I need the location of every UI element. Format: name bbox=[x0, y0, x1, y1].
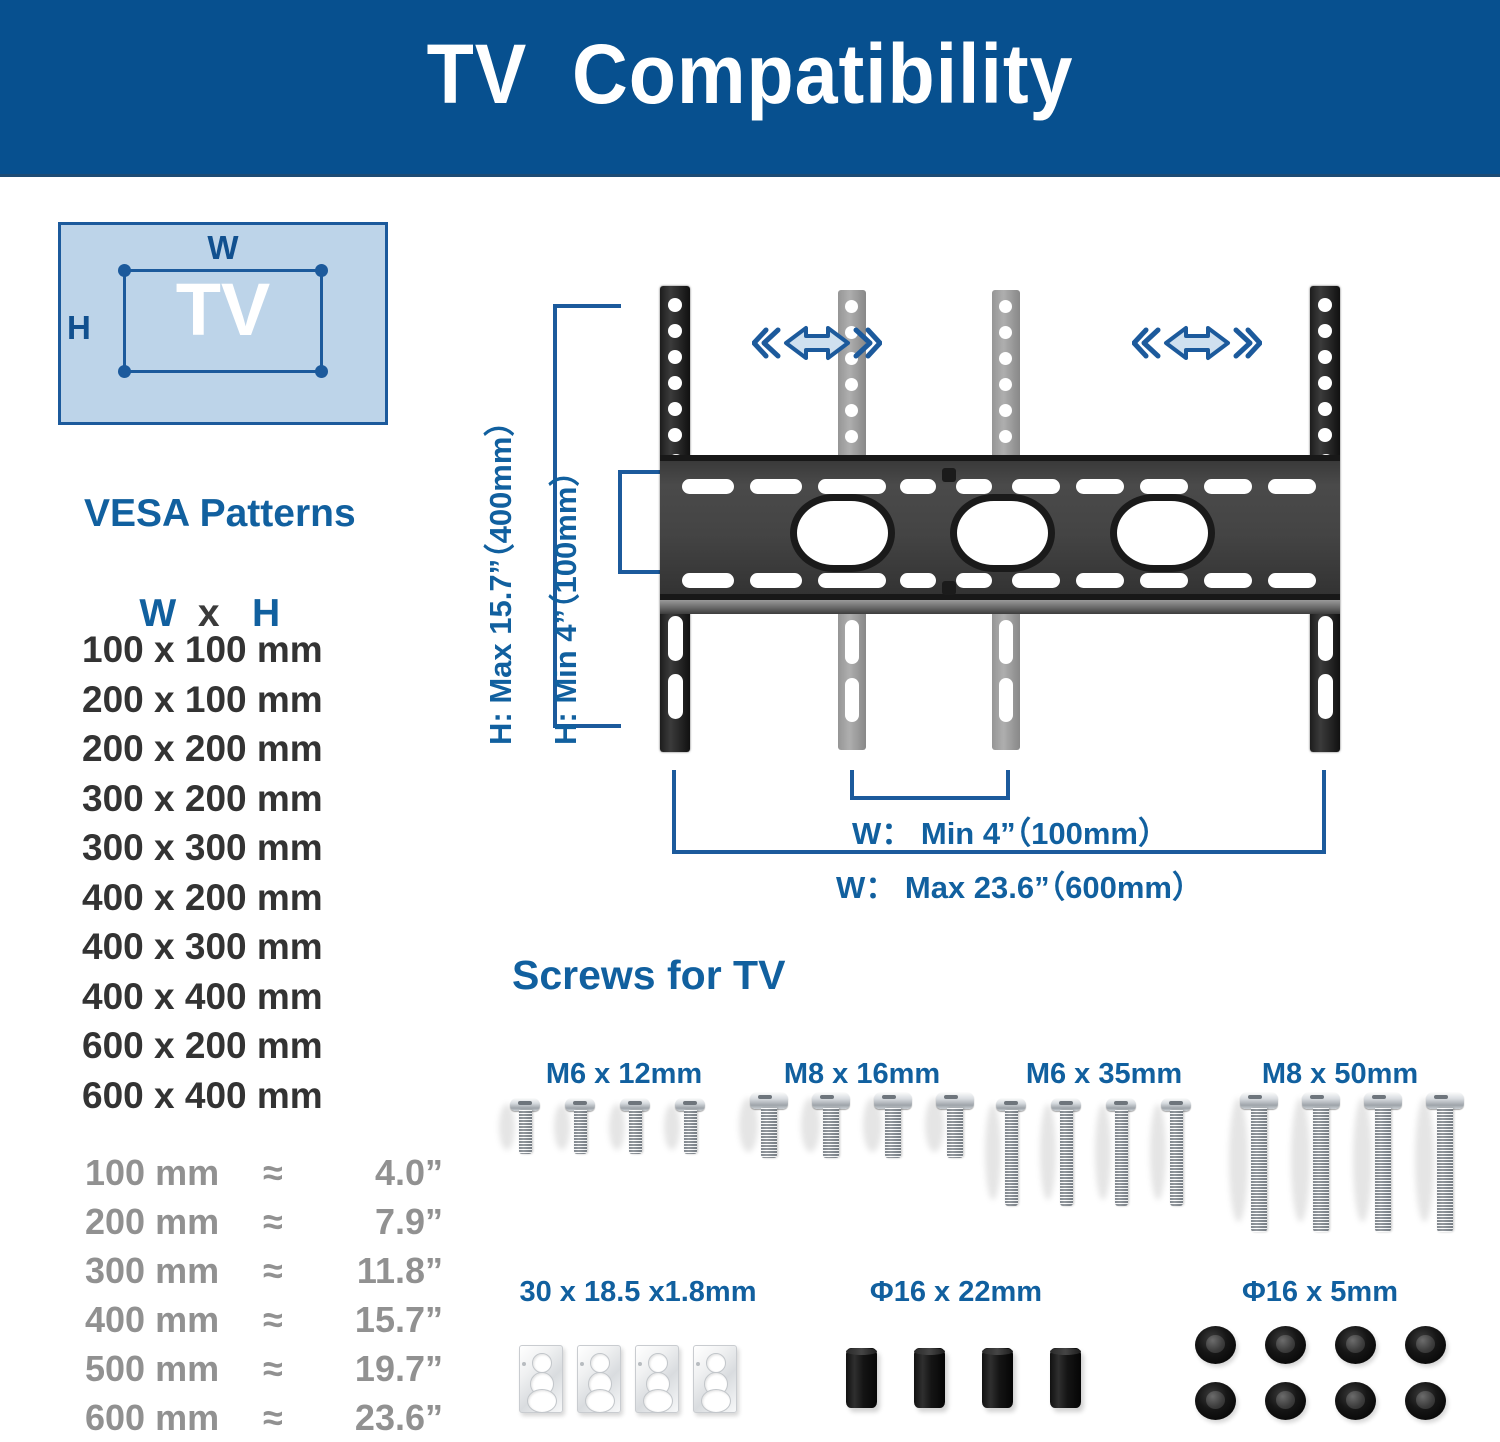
wall-mount-bracket-diagram: H: Max 15.7”（400mm） H: Min 4”（100mm） bbox=[500, 280, 1400, 880]
list-item: 600 x 400 mm bbox=[82, 1071, 462, 1121]
conv-inches: 7.9” bbox=[323, 1197, 443, 1246]
cylinder-spacer bbox=[914, 1348, 945, 1408]
w-min-dimension-label: W： Min 4”（100mm） bbox=[852, 808, 1169, 853]
plate-cutout bbox=[790, 494, 895, 572]
conv-mm: 100 mm bbox=[85, 1148, 263, 1197]
tv-corner-dot bbox=[315, 264, 328, 277]
conv-mm: 600 mm bbox=[85, 1393, 263, 1442]
vesa-patterns-heading: VESA Patterns bbox=[84, 492, 356, 536]
double-headed-arrow-icon bbox=[1132, 320, 1262, 366]
conv-inches: 15.7” bbox=[323, 1295, 443, 1344]
conv-inches: 11.8” bbox=[323, 1246, 443, 1295]
screws-section-heading: Screws for TV bbox=[512, 952, 785, 999]
w-max-left-tick bbox=[672, 770, 676, 854]
bracket-main-plate bbox=[660, 455, 1340, 600]
part-label-washer: Φ16 x 5mm bbox=[1210, 1276, 1430, 1309]
plate-cutout bbox=[1110, 494, 1215, 572]
tv-width-label: W bbox=[61, 229, 385, 267]
w-max-dimension-label: W： Max 23.6”（600mm） bbox=[836, 862, 1203, 907]
tv-corner-dot bbox=[315, 365, 328, 378]
conv-approx-symbol: ≈ bbox=[263, 1295, 323, 1344]
part-label-spacer: Φ16 x 22mm bbox=[846, 1276, 1066, 1309]
screw-m8-50 bbox=[1302, 1092, 1340, 1232]
washer bbox=[1195, 1382, 1236, 1420]
spacer-plate bbox=[577, 1345, 621, 1413]
tv-outline-diagram: W H TV bbox=[58, 222, 388, 425]
screw-m6-35 bbox=[1051, 1098, 1083, 1208]
h-min-dimension-label: H: Min 4”（100mm） bbox=[540, 456, 585, 745]
h-max-dim-top-tick bbox=[553, 304, 621, 308]
tv-corner-dot bbox=[118, 264, 131, 277]
list-item: 600 mm ≈ 23.6” bbox=[85, 1393, 485, 1442]
h-min-dim-top-tick bbox=[618, 470, 660, 474]
list-item: 400 x 300 mm bbox=[82, 922, 462, 972]
list-item: 300 x 200 mm bbox=[82, 774, 462, 824]
spacer-plate bbox=[519, 1345, 563, 1413]
vesa-pattern-list: 100 x 100 mm 200 x 100 mm 200 x 200 mm 3… bbox=[82, 625, 462, 1120]
conv-approx-symbol: ≈ bbox=[263, 1393, 323, 1442]
screw-m8-50 bbox=[1240, 1092, 1278, 1232]
tv-compatibility-infographic: TV Compatibility W H TV VESA Patterns W … bbox=[0, 0, 1500, 1442]
list-item: 200 mm ≈ 7.9” bbox=[85, 1197, 485, 1246]
h-max-dimension-label: H: Max 15.7”（400mm） bbox=[475, 406, 520, 745]
spacer-plate bbox=[693, 1345, 737, 1413]
screw-m8-16 bbox=[874, 1092, 912, 1158]
screw-m8-16 bbox=[936, 1092, 974, 1158]
conv-inches: 4.0” bbox=[323, 1148, 443, 1197]
h-min-dim-bottom-tick bbox=[618, 570, 660, 574]
washer bbox=[1195, 1326, 1236, 1364]
list-item: 100 x 100 mm bbox=[82, 625, 462, 675]
conv-approx-symbol: ≈ bbox=[263, 1344, 323, 1393]
conv-mm: 300 mm bbox=[85, 1246, 263, 1295]
mm-to-inch-conversion-list: 100 mm ≈ 4.0” 200 mm ≈ 7.9” 300 mm ≈ 11.… bbox=[85, 1148, 485, 1442]
list-item: 100 mm ≈ 4.0” bbox=[85, 1148, 485, 1197]
washer bbox=[1265, 1326, 1306, 1364]
h-min-dim-line bbox=[618, 470, 622, 574]
w-max-dim-line bbox=[672, 850, 1326, 854]
cylinder-spacer bbox=[982, 1348, 1013, 1408]
screw-m6-12 bbox=[565, 1098, 597, 1154]
part-label-m6-35: M6 x 35mm bbox=[1014, 1058, 1194, 1091]
screw-m6-12 bbox=[510, 1098, 542, 1154]
washer bbox=[1405, 1326, 1446, 1364]
list-item: 600 x 200 mm bbox=[82, 1021, 462, 1071]
screw-m8-16 bbox=[750, 1092, 788, 1158]
tv-top-line bbox=[123, 269, 323, 272]
conv-mm: 400 mm bbox=[85, 1295, 263, 1344]
cylinder-spacer bbox=[846, 1348, 877, 1408]
conv-inches: 23.6” bbox=[323, 1393, 443, 1442]
list-item: 400 mm ≈ 15.7” bbox=[85, 1295, 485, 1344]
screw-m6-12 bbox=[620, 1098, 652, 1154]
double-headed-arrow-icon bbox=[752, 320, 882, 366]
w-max-right-tick bbox=[1322, 770, 1326, 854]
list-item: 200 x 100 mm bbox=[82, 675, 462, 725]
spacer-plate bbox=[635, 1345, 679, 1413]
list-item: 300 x 300 mm bbox=[82, 823, 462, 873]
conv-mm: 500 mm bbox=[85, 1344, 263, 1393]
plate-cutout bbox=[950, 494, 1055, 572]
list-item: 400 x 200 mm bbox=[82, 873, 462, 923]
part-label-plate: 30 x 18.5 x1.8mm bbox=[508, 1276, 768, 1309]
part-label-m8-16: M8 x 16mm bbox=[772, 1058, 952, 1091]
conv-approx-symbol: ≈ bbox=[263, 1197, 323, 1246]
list-item: 300 mm ≈ 11.8” bbox=[85, 1246, 485, 1295]
bracket-plate-lip bbox=[660, 600, 1340, 614]
washer bbox=[1265, 1382, 1306, 1420]
list-item: 500 mm ≈ 19.7” bbox=[85, 1344, 485, 1393]
conv-approx-symbol: ≈ bbox=[263, 1246, 323, 1295]
part-label-m6-12: M6 x 12mm bbox=[534, 1058, 714, 1091]
conv-mm: 200 mm bbox=[85, 1197, 263, 1246]
washer bbox=[1335, 1382, 1376, 1420]
cylinder-spacer bbox=[1050, 1348, 1081, 1408]
screw-m8-16 bbox=[812, 1092, 850, 1158]
tv-bottom-line bbox=[123, 370, 323, 373]
list-item: 400 x 400 mm bbox=[82, 972, 462, 1022]
screw-m6-12 bbox=[675, 1098, 707, 1154]
page-title: TV Compatibility bbox=[60, 26, 1440, 123]
w-min-dim-line bbox=[850, 796, 1010, 800]
washer bbox=[1335, 1326, 1376, 1364]
screw-m6-35 bbox=[996, 1098, 1028, 1208]
washer bbox=[1405, 1382, 1446, 1420]
tv-right-line bbox=[320, 269, 323, 373]
screw-m6-35 bbox=[1161, 1098, 1193, 1208]
tv-corner-dot bbox=[118, 365, 131, 378]
header-banner: TV Compatibility bbox=[0, 0, 1500, 177]
list-item: 200 x 200 mm bbox=[82, 724, 462, 774]
tv-left-line bbox=[123, 269, 126, 373]
screw-m8-50 bbox=[1364, 1092, 1402, 1232]
screw-m8-50 bbox=[1426, 1092, 1464, 1232]
part-label-m8-50: M8 x 50mm bbox=[1250, 1058, 1430, 1091]
conv-inches: 19.7” bbox=[323, 1344, 443, 1393]
conv-approx-symbol: ≈ bbox=[263, 1148, 323, 1197]
screw-m6-35 bbox=[1106, 1098, 1138, 1208]
tv-center-label: TV bbox=[61, 273, 385, 347]
